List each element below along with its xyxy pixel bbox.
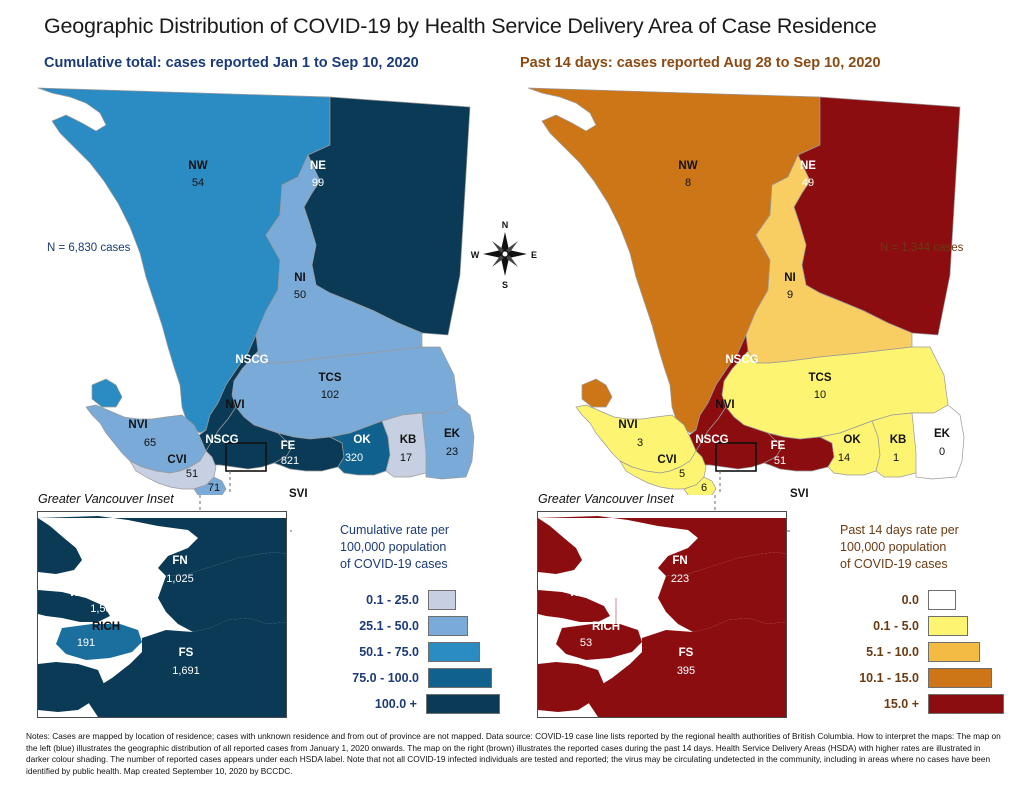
inset-label-van-value: 341 <box>595 589 613 601</box>
inset-label-fn-value: 223 <box>671 573 689 585</box>
legend-swatch <box>928 642 980 662</box>
label-nvi-value: 65 <box>144 437 156 449</box>
legend-entry[interactable]: 15.0 + <box>840 691 1010 717</box>
legend-swatch <box>428 668 492 688</box>
label-svi-value: 71 <box>208 482 220 494</box>
map-page: Geographic Distribution of COVID-19 by H… <box>0 0 1024 791</box>
compass-s: S <box>502 280 508 290</box>
legend-entries-right: 0.0 0.1 - 5.0 5.1 - 10.0 10.1 - 15.0 15.… <box>840 587 1010 717</box>
inset-label-fn-value: 1,025 <box>166 573 194 585</box>
legend-entry[interactable]: 0.1 - 25.0 <box>340 587 500 613</box>
label-fe-code: FE <box>771 440 786 452</box>
inset-label-rich-value: 191 <box>77 637 95 649</box>
legend-title-line2: 100,000 population <box>340 539 500 556</box>
inset-label-fs-code: FS <box>679 647 694 659</box>
label-ne-code: NE <box>800 160 816 172</box>
inset-label-fn-code: FN <box>172 555 187 567</box>
legend-title-line2: 100,000 population <box>840 539 1010 556</box>
inset-label-fs-code: FS <box>179 647 194 659</box>
legend-title-line3: of COVID-19 cases <box>340 556 500 573</box>
legend-title-right: Past 14 days rate per 100,000 population… <box>840 522 1010 573</box>
legend-entry-label: 0.1 - 25.0 <box>340 593 428 607</box>
compass-w: W <box>471 250 480 260</box>
label-ne-code: NE <box>310 160 326 172</box>
legend-entry[interactable]: 75.0 - 100.0 <box>340 665 500 691</box>
label-ek-code: EK <box>934 428 951 440</box>
label-svi-value: 6 <box>701 482 707 494</box>
label-ok-code: OK <box>353 434 371 446</box>
label-cvi-code: CVI <box>657 454 676 466</box>
inset-label-rich-value: 53 <box>580 637 592 649</box>
label-tcs-value: 102 <box>321 389 339 401</box>
label-nvi-code: NVI <box>128 419 147 431</box>
label-ni-code: NI <box>784 272 796 284</box>
left-inset-caption: Greater Vancouver Inset <box>38 492 174 506</box>
label-cvi-code: CVI <box>167 454 186 466</box>
legend-entry-label: 5.1 - 10.0 <box>840 645 928 659</box>
inset-label-rich-code: RICH <box>92 621 120 633</box>
label-kb-value: 1 <box>893 452 899 464</box>
label-ni-value: 50 <box>294 289 306 301</box>
label-kb-value: 17 <box>400 452 412 464</box>
page-title: Geographic Distribution of COVID-19 by H… <box>44 14 877 39</box>
right-inset-caption: Greater Vancouver Inset <box>538 492 674 506</box>
legend-entry-label: 0.0 <box>840 593 928 607</box>
inset-label-van-code: VAN <box>568 587 591 599</box>
vancouver-inset-past14days[interactable]: NSCG 88 FN 223 VAN 341 RICH 53 FS 395 <box>537 511 787 718</box>
label-svi-code-left: SVI <box>289 488 308 500</box>
legend-swatch <box>928 590 956 610</box>
label-svi-code-right: SVI <box>790 488 809 500</box>
label-ni-code: NI <box>294 272 306 284</box>
region-coast-island-shape[interactable] <box>92 379 122 407</box>
label-tcs-code: TCS <box>319 372 342 384</box>
legend-swatch <box>928 668 992 688</box>
label-nw-code: NW <box>678 160 697 172</box>
label-ok-value: 14 <box>838 452 850 464</box>
inset-label-nscg-code: NSCG <box>93 533 126 545</box>
legend-entry-label: 15.0 + <box>840 697 928 711</box>
right-case-total: N = 1,344 cases <box>880 242 963 254</box>
region-ek-shape[interactable] <box>422 405 474 479</box>
legend-swatch <box>426 694 500 714</box>
legend-entry-label: 75.0 - 100.0 <box>340 671 428 685</box>
legend-swatch <box>428 616 468 636</box>
label-nscg-coast-code: NSCG <box>725 354 758 366</box>
label-cvi-value: 51 <box>186 468 198 480</box>
label-tcs-code: TCS <box>809 372 832 384</box>
legend-swatch <box>928 694 1004 714</box>
right-panel-subtitle: Past 14 days: cases reported Aug 28 to S… <box>520 55 881 71</box>
left-panel-subtitle: Cumulative total: cases reported Jan 1 t… <box>44 55 419 71</box>
legend-swatch <box>428 642 480 662</box>
label-ok-value: 320 <box>345 452 363 464</box>
label-ne-value: 49 <box>802 177 814 189</box>
left-case-total: N = 6,830 cases <box>47 242 130 254</box>
legend-entry-label: 100.0 + <box>340 697 426 711</box>
legend-title-line3: of COVID-19 cases <box>840 556 1010 573</box>
label-fe-value: 51 <box>774 455 786 467</box>
region-coast-island-shape[interactable] <box>582 379 612 407</box>
inset-label-nscg-value: 473 <box>101 551 119 563</box>
vancouver-inset-cumulative[interactable]: NSCG 473 FN 1,025 VAN 1,581 RICH 191 FS … <box>37 511 287 718</box>
label-ek-value: 23 <box>446 446 458 458</box>
legend-title-left: Cumulative rate per 100,000 population o… <box>340 522 500 573</box>
label-fe-value: 821 <box>281 455 299 467</box>
inset-label-van-value: 1,581 <box>90 603 118 615</box>
legend-entry-label: 10.1 - 15.0 <box>840 671 928 685</box>
legend-title-line1: Cumulative rate per <box>340 522 500 539</box>
legend-entry[interactable]: 5.1 - 10.0 <box>840 639 1010 665</box>
legend-entry-label: 25.1 - 50.0 <box>340 619 428 633</box>
legend-entry[interactable]: 100.0 + <box>340 691 500 717</box>
label-ok-code: OK <box>843 434 861 446</box>
label-nvi-inland-code: NVI <box>715 399 734 411</box>
legend-entry-label: 0.1 - 5.0 <box>840 619 928 633</box>
compass-n: N <box>502 220 509 230</box>
label-tcs-value: 10 <box>814 389 826 401</box>
inset-label-nscg-code: NSCG <box>593 533 626 545</box>
bc-map-past14days[interactable]: NW 8 NE 49 NI 9 TCS 10 NSCG NVI NVI 3 CV… <box>515 85 985 495</box>
inset-label-rich-code: RICH <box>592 621 620 633</box>
label-ek-value: 0 <box>939 446 945 458</box>
legend-entry[interactable]: 0.0 <box>840 587 1010 613</box>
legend-entry[interactable]: 0.1 - 5.0 <box>840 613 1010 639</box>
label-nvi-inland-code: NVI <box>225 399 244 411</box>
inset-label-fs-value: 1,691 <box>172 665 200 677</box>
label-nvi-code: NVI <box>618 419 637 431</box>
label-nscg-coast-code: NSCG <box>235 354 268 366</box>
legend-cumulative: Cumulative rate per 100,000 population o… <box>340 522 500 717</box>
label-ni-value: 9 <box>787 289 793 301</box>
legend-swatch <box>928 616 968 636</box>
compass-rose-icon: N S W E <box>470 212 540 292</box>
legend-entry[interactable]: 50.1 - 75.0 <box>340 639 500 665</box>
label-kb-code: KB <box>890 434 907 446</box>
legend-title-line1: Past 14 days rate per <box>840 522 1010 539</box>
label-fe-code: FE <box>281 440 296 452</box>
footnotes: Notes: Cases are mapped by location of r… <box>26 731 1001 777</box>
legend-entries-left: 0.1 - 25.0 25.1 - 50.0 50.1 - 75.0 75.0 … <box>340 587 500 717</box>
inset-label-fs-value: 395 <box>677 665 695 677</box>
legend-entry[interactable]: 25.1 - 50.0 <box>340 613 500 639</box>
compass-e: E <box>531 250 537 260</box>
label-nw-value: 54 <box>192 177 204 189</box>
inset-label-van-code: VAN <box>68 587 91 599</box>
legend-swatch <box>428 590 456 610</box>
label-nw-code: NW <box>188 160 207 172</box>
label-nscg-mainland-code: NSCG <box>205 434 238 446</box>
label-nw-value: 8 <box>685 177 691 189</box>
inset-label-fn-code: FN <box>672 555 687 567</box>
label-nscg-mainland-code: NSCG <box>695 434 728 446</box>
legend-past14days: Past 14 days rate per 100,000 population… <box>840 522 1010 717</box>
legend-entry-label: 50.1 - 75.0 <box>340 645 428 659</box>
label-ek-code: EK <box>444 428 461 440</box>
label-cvi-value: 5 <box>679 468 685 480</box>
inset-label-nscg-value: 88 <box>604 551 616 563</box>
legend-entry[interactable]: 10.1 - 15.0 <box>840 665 1010 691</box>
bc-map-cumulative[interactable]: NW 54 NE 99 NI 50 TCS 102 NSCG NVI NVI 6… <box>30 85 490 495</box>
label-nvi-value: 3 <box>637 437 643 449</box>
region-ek-shape[interactable] <box>912 405 964 479</box>
label-kb-code: KB <box>400 434 417 446</box>
label-ne-value: 99 <box>312 177 324 189</box>
